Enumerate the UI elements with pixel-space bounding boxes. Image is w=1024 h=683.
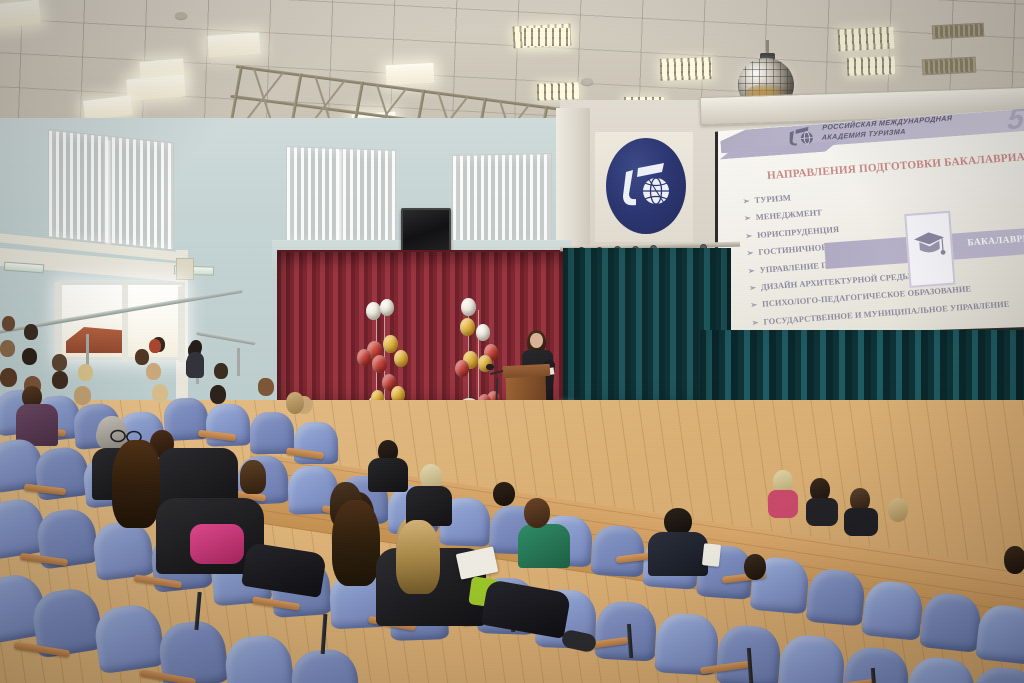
audience-head — [112, 440, 160, 528]
ceiling-light-panel — [837, 27, 894, 52]
speaker-head — [530, 333, 543, 348]
slide-rmat-logo-icon — [787, 125, 814, 147]
audience-head — [22, 348, 37, 365]
audience-head — [1004, 546, 1024, 574]
audience-head — [74, 386, 91, 405]
audience-head — [258, 378, 274, 396]
balloon-gold — [460, 318, 475, 336]
vertical-blinds — [452, 153, 552, 249]
window-light-glare — [104, 140, 112, 245]
ceiling-light-panel — [847, 56, 896, 76]
audience-torso — [187, 352, 204, 378]
audience-torso — [368, 458, 408, 492]
bullet-arrow-icon: ➢ — [750, 301, 757, 310]
podium-desktop — [503, 364, 551, 378]
auditorium-seat — [591, 525, 646, 578]
bullet-arrow-icon: ➢ — [748, 266, 755, 275]
balloon-white — [476, 324, 490, 341]
bullet-arrow-icon: ➢ — [749, 283, 756, 292]
bullet-arrow-icon: ➢ — [745, 231, 752, 240]
balloon-white — [380, 299, 394, 316]
audience-head — [240, 460, 266, 494]
slide-anniversary-number: 5 — [1006, 108, 1024, 137]
audience-head — [24, 324, 38, 340]
window-mullion — [122, 284, 128, 362]
balloon-gold — [394, 350, 408, 367]
wall-junction-box — [176, 258, 194, 280]
ceiling-light-panel — [537, 82, 580, 100]
ceiling-vent — [932, 23, 985, 40]
railing-post — [237, 348, 240, 376]
audience-scarf — [190, 524, 244, 564]
projection-screen: РОССИЙСКАЯ МЕЖДУНАРОДНАЯ АКАДЕМИЯ ТУРИЗМ… — [715, 108, 1024, 356]
ceiling-light-panel — [660, 57, 713, 81]
audience-head — [152, 384, 168, 403]
stage-monitor — [401, 208, 451, 252]
bullet-arrow-icon: ➢ — [746, 248, 753, 257]
smoke-detector-icon — [175, 12, 187, 19]
audience-head — [396, 520, 440, 594]
balloon-gold — [383, 335, 398, 353]
audience-head — [744, 554, 766, 580]
audience-head — [888, 498, 908, 522]
ceiling-light-panel — [386, 63, 435, 85]
audience-head — [0, 368, 17, 387]
audience-head — [214, 363, 228, 379]
audience-document — [702, 543, 721, 567]
balloon-red — [455, 360, 469, 377]
railing-post — [86, 334, 89, 368]
audience-torso — [844, 508, 878, 536]
audience-head — [149, 339, 161, 353]
graduation-cap-icon — [912, 228, 946, 260]
rmat-emblem-glyph-icon — [620, 158, 674, 214]
audience-head — [78, 364, 93, 381]
ceiling-light-panel — [0, 0, 41, 28]
slide-body: ➢ТУРИЗМ ➢МЕНЕДЖМЕНТ ➢ЮРИСПРУДЕНЦИЯ ➢ГОСТ… — [722, 172, 1024, 333]
ceiling-light-panel — [524, 28, 570, 46]
audience-torso — [518, 524, 570, 568]
audience-head — [524, 498, 550, 528]
audience-head — [146, 363, 161, 380]
audience-head — [0, 340, 15, 357]
audience-head — [135, 349, 149, 365]
audience-head — [52, 371, 68, 389]
audience-head — [210, 385, 226, 404]
balloon-white — [461, 298, 476, 316]
bullet-arrow-icon: ➢ — [744, 214, 751, 223]
microphone-icon — [486, 364, 494, 370]
audience-torso — [806, 498, 838, 526]
auditorium-seat — [595, 600, 658, 661]
balloon-red — [357, 349, 371, 366]
ceiling-vent — [922, 57, 977, 76]
balloon-red — [372, 355, 387, 373]
window-light-glare — [336, 150, 343, 242]
audience-torso — [768, 490, 798, 518]
ceiling-light-panel — [207, 32, 260, 58]
audience-head — [286, 392, 304, 414]
balloon-string — [478, 310, 479, 400]
audience-torso — [648, 532, 708, 576]
audience-head — [493, 482, 515, 506]
balloon-white — [366, 302, 381, 320]
balloon-string — [468, 302, 469, 398]
bullet-arrow-icon: ➢ — [743, 196, 750, 205]
audience-head — [52, 354, 67, 371]
smoke-detector-icon — [581, 78, 593, 85]
auditorium-photo: РОССИЙСКАЯ МЕЖДУНАРОДНАЯ АКАДЕМИЯ ТУРИЗМ… — [0, 0, 1024, 683]
bullet-arrow-icon: ➢ — [751, 318, 758, 327]
audience-head — [332, 500, 380, 586]
audience-head — [2, 316, 15, 331]
slide-content: РОССИЙСКАЯ МЕЖДУНАРОДНАЯ АКАДЕМИЯ ТУРИЗМ… — [715, 108, 1024, 356]
